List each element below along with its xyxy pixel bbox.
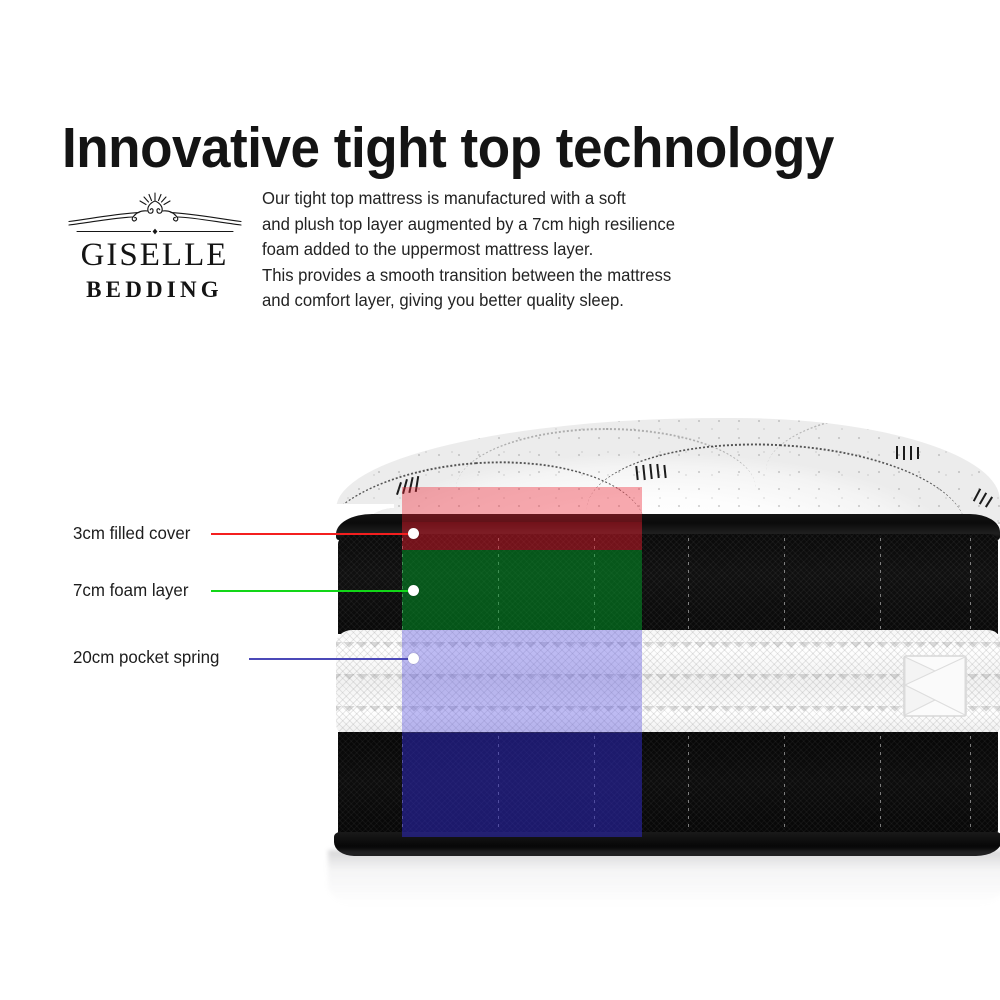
description-line-1: Our tight top mattress is manufactured w…	[262, 186, 713, 212]
seam-line	[970, 736, 971, 840]
overlay-support-base	[402, 733, 642, 837]
seam-line	[688, 736, 689, 840]
seam-line	[784, 538, 785, 634]
overlay-filled-cover-border	[402, 522, 642, 550]
seam-line	[880, 538, 881, 634]
brand-logo: GISELLE BEDDING	[62, 190, 247, 305]
brand-name: GISELLE	[62, 238, 247, 273]
seam-line	[970, 538, 971, 634]
stitch-arc	[766, 418, 1000, 524]
side-handle-icon	[902, 654, 968, 718]
brand-subname: BEDDING	[62, 275, 247, 305]
callout-label-foam-layer: 7cm foam layer	[73, 580, 188, 601]
seam-line	[880, 736, 881, 840]
page-title: Innovative tight top technology	[62, 120, 899, 177]
seam-line	[688, 538, 689, 634]
overlay-foam-layer	[402, 550, 642, 630]
description-line-2: and plush top layer augmented by a 7cm h…	[262, 212, 713, 238]
product-shadow	[328, 850, 1000, 906]
description-line-5: and comfort layer, giving you better qua…	[262, 288, 713, 314]
description-text: Our tight top mattress is manufactured w…	[262, 186, 713, 314]
product-infographic: Innovative tight top technology	[0, 0, 1000, 1000]
crest-ornament-icon	[67, 190, 243, 236]
description-line-4: This provides a smooth transition betwee…	[262, 263, 713, 289]
overlay-pocket-spring	[402, 630, 642, 733]
description-line-3: foam added to the uppermost mattress lay…	[262, 237, 713, 263]
callout-label-filled-cover: 3cm filled cover	[73, 523, 190, 544]
callout-label-pocket-spring: 20cm pocket spring	[73, 647, 219, 668]
overlay-filled-cover-top	[402, 487, 642, 522]
seam-line	[784, 736, 785, 840]
